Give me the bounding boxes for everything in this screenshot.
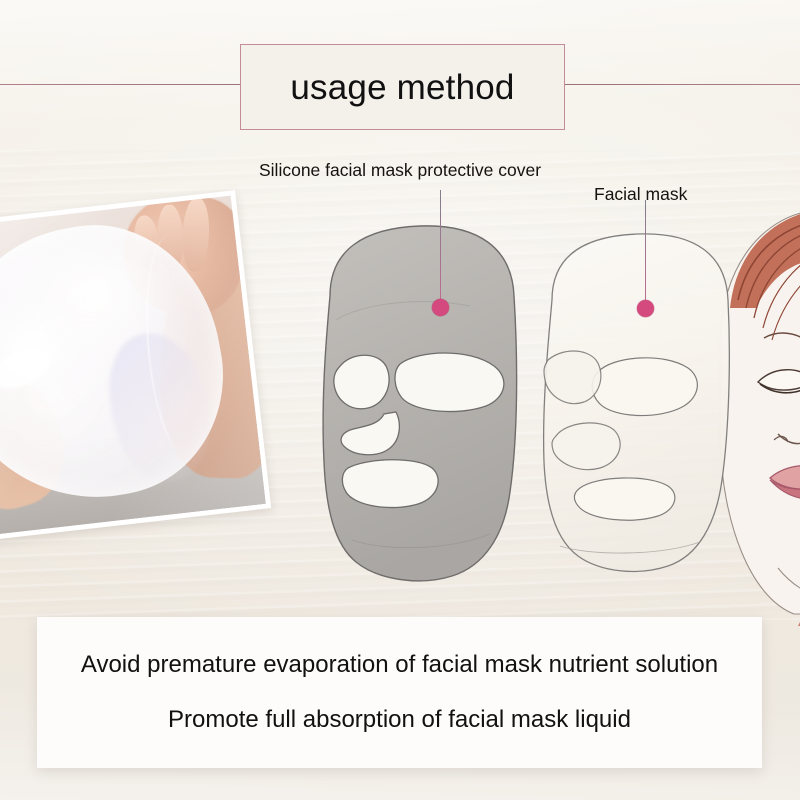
callout-dot-facial-mask <box>637 300 654 317</box>
leader-line-facial-mask <box>645 200 646 304</box>
sheet-mask-shape <box>544 234 730 572</box>
benefits-card: Avoid premature evaporation of facial ma… <box>37 617 762 768</box>
silicone-mouth-hole <box>342 460 438 508</box>
silicone-mask-shape <box>323 226 517 581</box>
infographic-canvas: usage method <box>0 0 800 800</box>
leader-line-silicone-cover <box>440 190 441 304</box>
sheet-mask-eye-hole <box>592 358 697 416</box>
sheet-mask-nose-hole <box>552 423 620 470</box>
sheet-mask-mouth-hole <box>574 478 674 520</box>
benefit-line-2: Promote full absorption of facial mask l… <box>168 708 631 732</box>
callout-label-silicone-cover: Silicone facial mask protective cover <box>259 160 541 181</box>
callout-dot-silicone-cover <box>432 299 449 316</box>
callout-label-facial-mask: Facial mask <box>594 184 687 205</box>
benefit-line-1: Avoid premature evaporation of facial ma… <box>81 653 718 677</box>
silicone-eye-hole-right <box>395 353 504 412</box>
silicone-eye-hole-left <box>334 355 389 409</box>
